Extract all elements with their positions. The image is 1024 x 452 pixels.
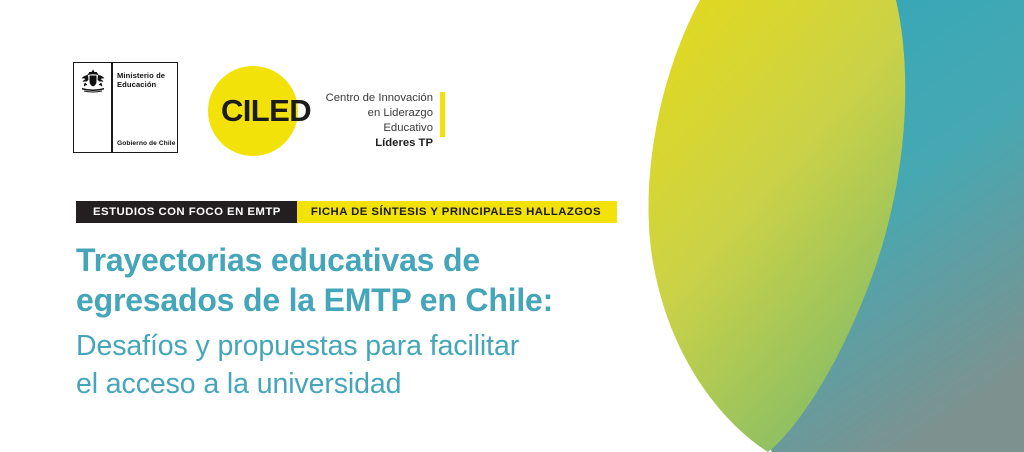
gobierno-de-chile-label: Gobierno de Chile [117, 140, 175, 147]
page-subtitle-line2: el acceso a la universidad [76, 365, 616, 403]
ciled-tagline: Centro de Innovación en Liderazgo Educat… [318, 91, 433, 151]
logo-divider [111, 63, 113, 152]
ciled-tagline-line1: Centro de Innovación [318, 91, 433, 106]
decorative-artwork [620, 0, 1024, 452]
ciled-tagline-line3: Líderes TP [318, 136, 433, 151]
ministerio-de-educacion-logo: Ministerio de Educación Gobierno de Chil… [73, 62, 178, 153]
ciled-tagline-line2: en Liderazgo Educativo [318, 106, 433, 136]
eyebrow-category-label: ESTUDIOS CON FOCO EN EMTP [76, 201, 297, 223]
ministerio-name: Ministerio de Educación [117, 71, 177, 90]
page-title-line2: egresados de la EMTP en Chile: [76, 280, 616, 320]
ciled-logo: CILED Centro de Innovación en Liderazgo … [208, 66, 518, 158]
title-block: Trayectorias educativas de egresados de … [76, 240, 616, 404]
ciled-yellow-accent-bar [440, 92, 445, 137]
page-subtitle-line1: Desafíos y propuestas para facilitar [76, 327, 616, 365]
eyebrow-banner: ESTUDIOS CON FOCO EN EMTP FICHA DE SÍNTE… [76, 201, 617, 223]
page-subtitle: Desafíos y propuestas para facilitar el … [76, 327, 616, 404]
page-title-line1: Trayectorias educativas de [76, 240, 616, 280]
chile-coat-of-arms-icon [78, 69, 108, 95]
ciled-wordmark: CILED [221, 95, 311, 126]
eyebrow-subject-label: FICHA DE SÍNTESIS Y PRINCIPALES HALLAZGO… [297, 201, 617, 223]
artwork-svg [620, 0, 1024, 452]
ministerio-name-line1: Ministerio de [117, 71, 177, 80]
ministerio-name-line2: Educación [117, 80, 177, 89]
